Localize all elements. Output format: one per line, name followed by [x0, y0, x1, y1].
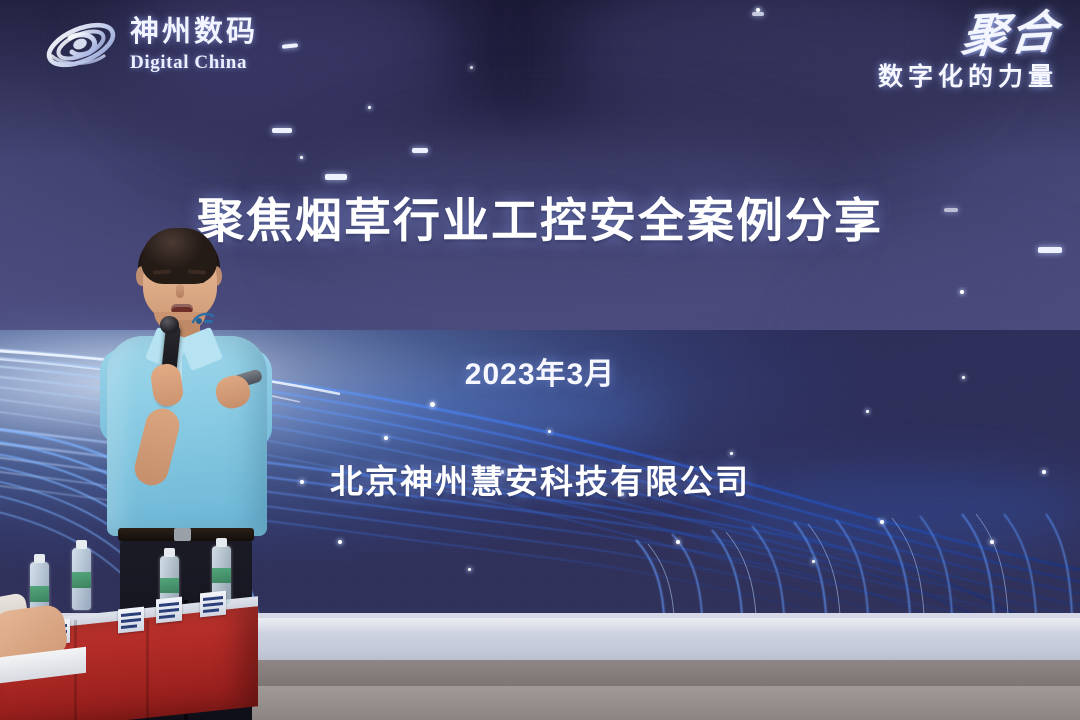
- brand-name-cn: 神州数码: [130, 18, 258, 47]
- speaker-polo-shirt: [107, 336, 267, 536]
- digital-china-logo: 神州数码 Digital China: [42, 14, 258, 76]
- conference-photo: 神州数码 Digital China 聚合 数字化的力量 聚焦烟草行业工控安全案…: [0, 0, 1080, 720]
- water-bottle: [72, 548, 91, 610]
- chest-logo-icon: [191, 308, 217, 330]
- speaker-belt-buckle: [174, 528, 191, 541]
- bottle-label: [30, 586, 49, 602]
- name-card: [118, 607, 144, 634]
- digital-china-wordmark: 神州数码 Digital China: [130, 18, 258, 72]
- bottle-cap: [216, 538, 227, 547]
- speaker-nose: [176, 284, 184, 298]
- name-card-line: [159, 608, 179, 613]
- name-card-line: [203, 602, 223, 607]
- name-card-line: [159, 602, 179, 607]
- name-card: [156, 597, 182, 624]
- name-card-line: [121, 624, 137, 629]
- name-card-line: [203, 596, 223, 601]
- bottle-label: [72, 572, 91, 588]
- name-card-line: [159, 614, 175, 619]
- bottle-cap: [76, 540, 87, 549]
- speaker-person: [92, 228, 282, 620]
- bottle-cap: [164, 548, 175, 557]
- name-card: [200, 591, 226, 618]
- name-card-line: [121, 612, 141, 617]
- speaker-eye-left: [155, 278, 170, 283]
- event-calligraphy: 聚合: [959, 12, 1060, 58]
- table-skirt-fold: [146, 620, 149, 720]
- speaker-hair: [141, 228, 217, 284]
- bottle-label: [212, 568, 231, 583]
- digital-china-swirl-icon: [42, 14, 120, 76]
- bottle-cap: [34, 554, 45, 563]
- name-card-line: [203, 608, 219, 613]
- brand-name-en: Digital China: [130, 53, 258, 72]
- name-card-line: [121, 618, 141, 623]
- bottle-label: [160, 578, 179, 593]
- speaker-eye-right: [190, 278, 205, 283]
- event-logo: 聚合 数字化的力量: [878, 14, 1058, 93]
- event-tagline: 数字化的力量: [878, 57, 1058, 93]
